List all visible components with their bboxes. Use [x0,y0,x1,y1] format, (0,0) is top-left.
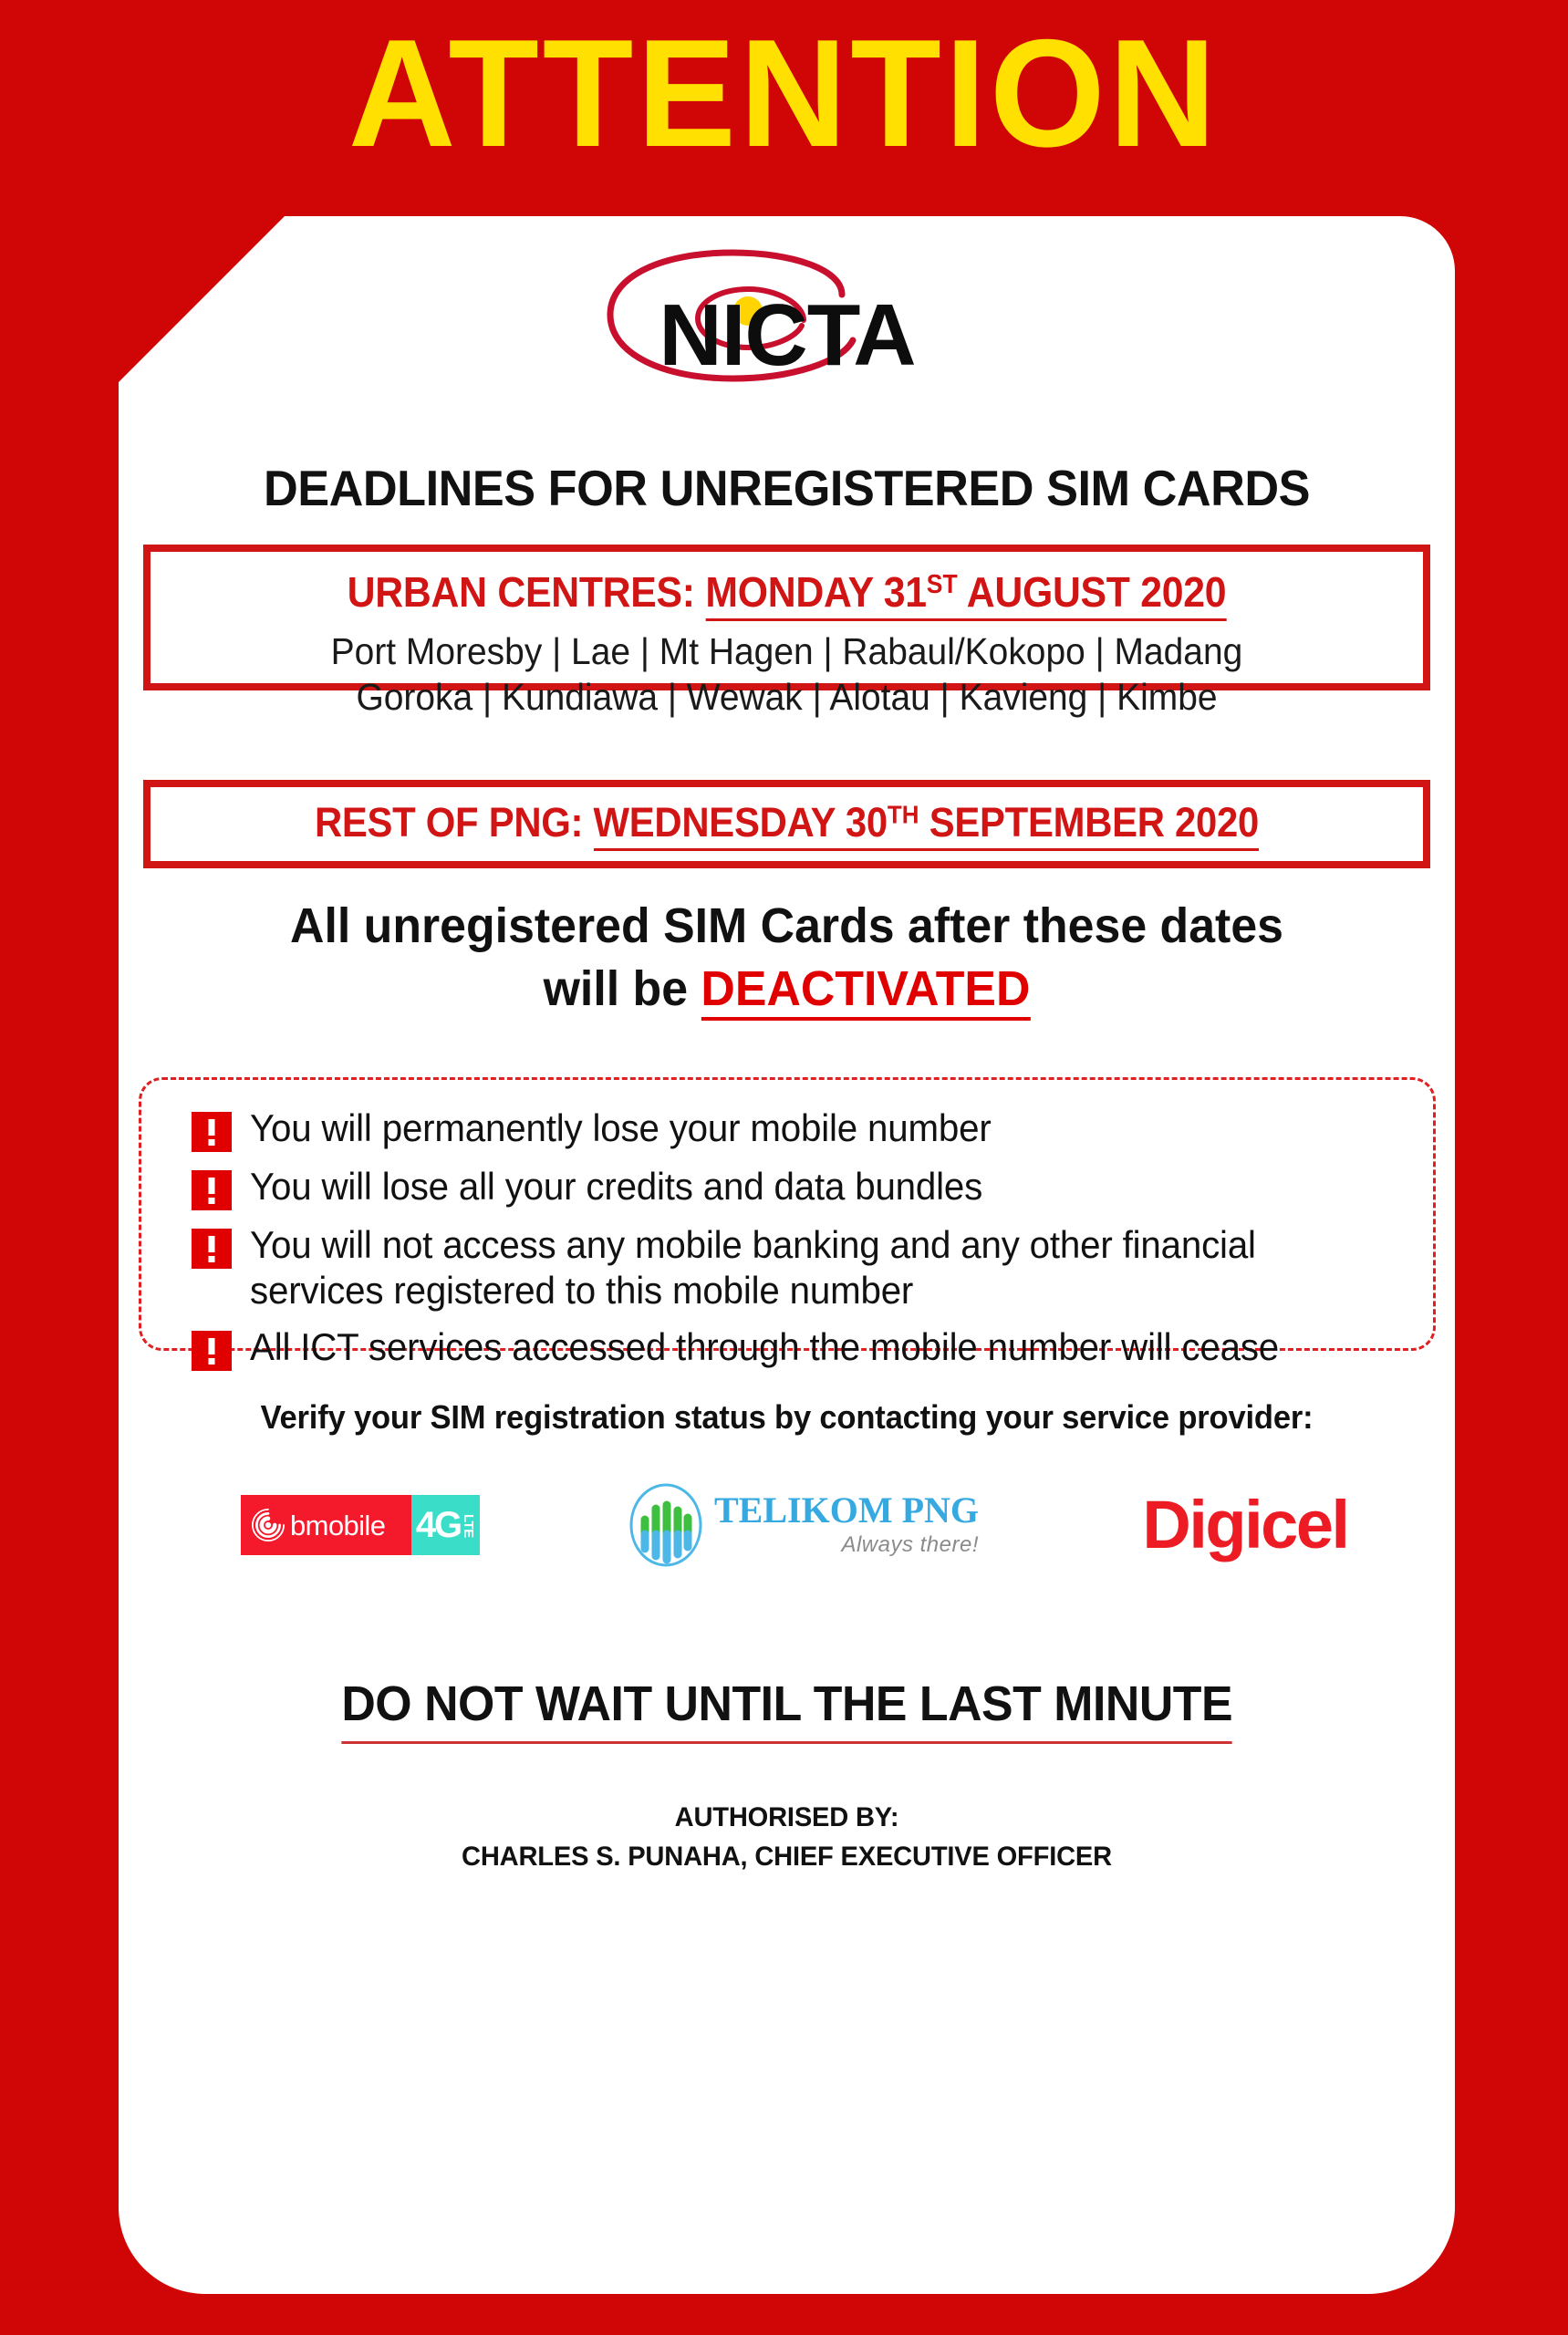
deadline-box-urban: URBAN CENTRES: MONDAY 31ST AUGUST 2020 P… [143,545,1430,690]
urban-cities-line-2: Goroka | Kundiawa | Wewak | Alotau | Kav… [182,674,1391,720]
svg-text:NICTA: NICTA [659,286,915,384]
deadline-png-label: REST OF PNG: [315,799,583,846]
warning-icon [192,1331,232,1371]
deadline-box-rest-of-png: REST OF PNG: WEDNESDAY 30TH SEPTEMBER 20… [143,780,1430,868]
consequence-text: You will permanently lose your mobile nu… [250,1105,992,1151]
warning-icon [192,1229,232,1269]
nicta-logo-container: NICTA [119,242,1455,415]
deadline-png-ordinal: TH [888,801,919,829]
deactivation-notice: All unregistered SIM Cards after these d… [145,895,1428,1021]
deadline-urban-label: URBAN CENTRES: [348,568,695,616]
nicta-logo: NICTA [568,242,1006,415]
authorised-by-label: AUTHORISED BY: [139,1799,1435,1838]
attention-banner: ATTENTION [24,13,1544,173]
consequence-text: All ICT services accessed through the mo… [250,1324,1279,1370]
provider-digicel[interactable]: Digicel [1085,1491,1405,1559]
bmobile-swirl-icon [252,1509,285,1541]
deadline-urban-ordinal: ST [927,570,958,599]
list-item: You will permanently lose your mobile nu… [192,1105,1415,1152]
call-to-action: DO NOT WAIT UNTIL THE LAST MINUTE [341,1676,1232,1744]
warning-icon [192,1112,232,1152]
telikom-wordmark: TELIKOM PNG [714,1492,979,1529]
deactivation-line-1: All unregistered SIM Cards after these d… [145,895,1428,958]
consequence-text: You will not access any mobile banking a… [250,1222,1257,1313]
bmobile-4g-badge: 4G [416,1507,461,1543]
deadline-png-line: REST OF PNG: WEDNESDAY 30TH SEPTEMBER 20… [195,799,1378,846]
warning-icon [192,1170,232,1210]
list-item: You will not access any mobile banking a… [192,1222,1415,1313]
call-to-action-container: DO NOT WAIT UNTIL THE LAST MINUTE [119,1676,1455,1744]
telikom-mark-icon [627,1483,705,1567]
page-title: DEADLINES FOR UNREGISTERED SIM CARDS [152,459,1422,517]
urban-cities: Port Moresby | Lae | Mt Hagen | Rabaul/K… [182,628,1391,721]
poster-background: ATTENTION NICTA DEADLINES FOR UNREGISTER… [0,0,1568,2335]
footer-authorisation: AUTHORISED BY: CHARLES S. PUNAHA, CHIEF … [139,1799,1435,1876]
verify-instruction: Verify your SIM registration status by c… [145,1398,1428,1437]
telikom-tagline: Always there! [714,1532,979,1558]
list-item: All ICT services accessed through the mo… [192,1324,1415,1371]
sim-card-panel: NICTA DEADLINES FOR UNREGISTERED SIM CAR… [119,216,1455,2294]
consequence-text: You will lose all your credits and data … [250,1164,982,1209]
consequences-panel: You will permanently lose your mobile nu… [139,1077,1436,1351]
deadline-urban-line: URBAN CENTRES: MONDAY 31ST AUGUST 2020 [195,567,1378,617]
provider-bmobile[interactable]: bmobile 4G LTE [182,1495,538,1555]
deactivation-prefix: will be [544,961,701,1016]
deactivation-highlight: DEACTIVATED [701,961,1030,1021]
deadline-png-date: WEDNESDAY 30TH SEPTEMBER 2020 [594,799,1259,851]
consequences-list: You will permanently lose your mobile nu… [192,1105,1415,1383]
digicel-wordmark: Digicel [1142,1491,1347,1559]
provider-logo-strip: bmobile 4G LTE [119,1470,1455,1580]
provider-telikom-png[interactable]: TELIKOM PNG Always there! [611,1483,994,1567]
deactivation-line-2: will be DEACTIVATED [145,958,1428,1021]
bmobile-wordmark: bmobile [290,1511,385,1540]
deadline-urban-date: MONDAY 31ST AUGUST 2020 [705,568,1226,621]
authoriser-name: CHARLES S. PUNAHA, CHIEF EXECUTIVE OFFIC… [139,1838,1435,1877]
list-item: You will lose all your credits and data … [192,1164,1415,1210]
urban-cities-line-1: Port Moresby | Lae | Mt Hagen | Rabaul/K… [182,628,1391,674]
bmobile-lte-badge: LTE [462,1514,475,1538]
